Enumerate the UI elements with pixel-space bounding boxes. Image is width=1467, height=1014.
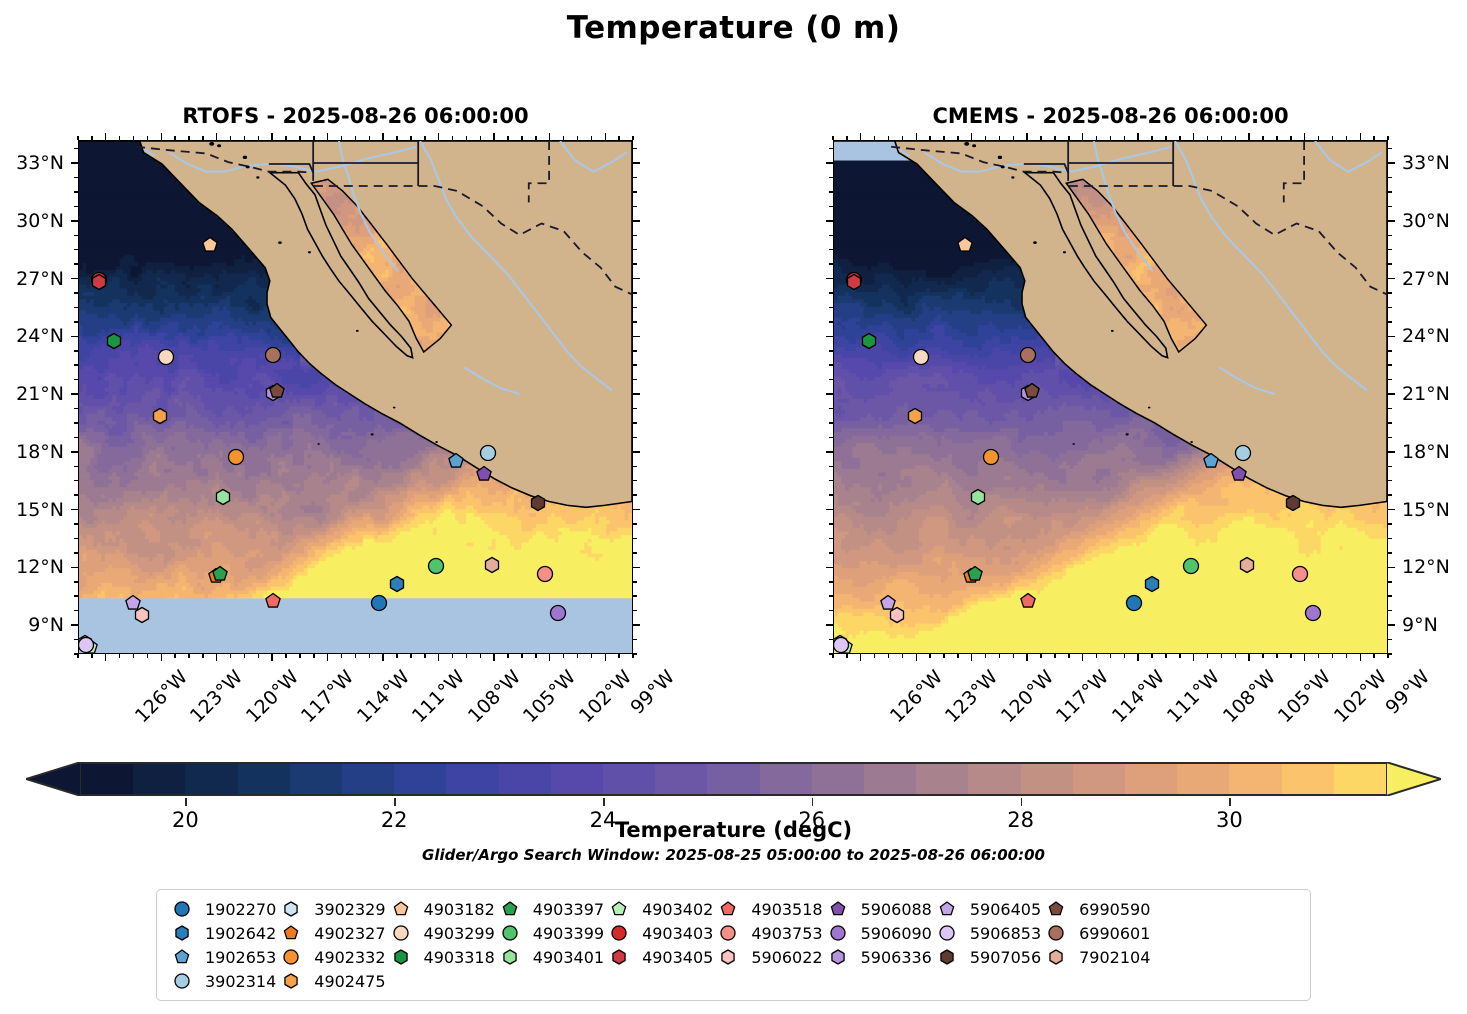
lon-minor-tick [299,654,301,658]
lat-minor-tick [1388,494,1392,496]
lat-minor-tick [74,567,78,569]
lat-minor-tick [74,639,78,641]
lon-minor-tick [957,654,959,658]
legend-column: 4903182490329949033180000000 [386,898,495,992]
lat-minor-tick [829,595,833,597]
lon-minor-tick [216,136,218,140]
lon-minor-tick [618,654,620,658]
colorbar-segment [446,764,499,794]
lon-minor-tick [327,654,329,658]
legend-marker-icon [495,949,525,965]
lon-minor-tick [1304,136,1306,140]
lon-minor-tick [507,136,509,140]
lat-minor-tick [1388,624,1392,626]
lat-minor-tick [633,494,637,496]
lat-minor-tick [633,581,637,583]
lon-label: 105°W [1274,666,1335,727]
lat-minor-tick [74,379,78,381]
legend-marker-icon [167,949,197,965]
lat-minor-tick [74,393,78,395]
lat-minor-tick [74,538,78,540]
lat-label: 27°N [16,268,64,290]
lat-minor-tick [829,466,833,468]
lon-minor-tick [258,654,260,658]
lon-minor-tick [563,136,565,140]
lon-minor-tick [832,136,834,140]
map-panel-cmems: CMEMS - 2025-08-26 06:00:00 9°N12°N15°N1… [833,140,1388,654]
lon-minor-tick [549,136,551,140]
legend-item-label: 7902104 [1071,948,1150,967]
lat-minor-tick [1388,509,1392,511]
lat-minor-tick [633,639,637,641]
legend-item-label: 4903405 [634,948,713,967]
colorbar-segment [603,764,656,794]
legend-item[interactable]: 4902332 [276,946,385,968]
lon-minor-tick [1360,654,1362,658]
lon-minor-tick [147,136,149,140]
legend-item[interactable]: 7902104 [1041,946,1150,968]
legend-item-label: 4903518 [743,900,822,919]
legend-item-label: 4903318 [416,948,495,967]
lat-minor-tick [633,451,637,453]
lat-minor-tick [829,624,833,626]
legend-item[interactable]: 5906022 [713,946,822,968]
legend-marker-icon [1041,901,1071,917]
legend-column: 4903402490340349034050000000 [604,898,713,992]
lat-minor-tick [633,595,637,597]
lon-minor-tick [929,136,931,140]
legend-item-label: 5906090 [853,924,932,943]
legend-item[interactable]: 4903399 [495,922,604,944]
lat-label: 18°N [1402,441,1450,463]
legend-item[interactable]: 6990601 [1041,922,1150,944]
legend-item[interactable]: 4903403 [604,922,713,944]
lon-minor-tick [563,654,565,658]
lon-minor-tick [832,654,834,658]
lon-minor-tick [313,654,315,658]
lat-minor-tick [829,538,833,540]
lon-minor-tick [916,654,918,658]
legend-item[interactable]: 4903182 [386,898,495,920]
legend-item[interactable]: 5906088 [823,898,932,920]
lon-minor-tick [1235,654,1237,658]
lon-minor-tick [1193,654,1195,658]
lat-minor-tick [74,235,78,237]
legend-marker-icon [386,949,416,965]
lon-minor-tick [957,136,959,140]
lat-minor-tick [74,624,78,626]
lat-label: 9°N [1402,614,1438,636]
lon-minor-tick [846,654,848,658]
lon-minor-tick [971,654,973,658]
legend-item[interactable]: 5906090 [823,922,932,944]
lon-label: 99°W [627,666,680,719]
lat-label: 15°N [16,499,64,521]
legend-item[interactable]: 4902475 [276,970,385,992]
lat-minor-tick [633,437,637,439]
lon-minor-tick [1290,136,1292,140]
lon-label: 126°W [131,666,192,727]
lat-minor-tick [633,567,637,569]
lat-minor-tick [1388,408,1392,410]
lat-minor-tick [633,523,637,525]
lat-minor-tick [74,206,78,208]
lat-label: 33°N [16,152,64,174]
legend-item[interactable]: 4903405 [604,946,713,968]
lon-minor-tick [874,654,876,658]
lon-minor-tick [985,654,987,658]
lat-minor-tick [74,350,78,352]
lon-minor-tick [1165,654,1167,658]
lat-minor-tick [633,364,637,366]
lon-minor-tick [382,654,384,658]
lon-minor-tick [860,654,862,658]
lon-minor-tick [382,136,384,140]
lat-minor-tick [633,552,637,554]
legend-item-label: 4903397 [525,900,604,919]
lat-minor-tick [633,278,637,280]
lat-minor-tick [829,581,833,583]
lon-minor-tick [1290,654,1292,658]
lat-minor-tick [74,177,78,179]
lon-label: 117°W [1052,666,1113,727]
legend-item[interactable]: 1902642 [167,922,276,944]
legend-item-label: 6990601 [1071,924,1150,943]
lat-minor-tick [1388,350,1392,352]
lat-minor-tick [829,509,833,511]
lon-minor-tick [271,654,273,658]
lat-minor-tick [829,393,833,395]
lat-minor-tick [633,610,637,612]
lat-label: 21°N [1402,383,1450,405]
lon-minor-tick [424,136,426,140]
lon-minor-tick [1318,136,1320,140]
legend-column: 5906405590685359070560000000 [932,898,1041,992]
lat-minor-tick [74,408,78,410]
legend-item[interactable]: 4903518 [713,898,822,920]
lon-minor-tick [1054,136,1056,140]
lat-minor-tick [74,552,78,554]
colorbar-segment [655,764,708,794]
legend-column: 4903518490375359060220000000 [713,898,822,992]
lon-minor-tick [902,136,904,140]
lat-minor-tick [829,263,833,265]
legend-marker-icon [713,925,743,941]
legend-column: 5906088590609059063360000000 [823,898,932,992]
colorbar-segment [81,764,134,794]
colorbar-segment [1282,764,1335,794]
lon-minor-tick [77,654,79,658]
lon-minor-tick [874,136,876,140]
lat-minor-tick [633,307,637,309]
lat-minor-tick [74,220,78,222]
lon-minor-tick [452,654,454,658]
lon-minor-tick [244,654,246,658]
lat-minor-tick [829,249,833,251]
lon-label: 117°W [297,666,358,727]
legend-marker-icon [1041,925,1071,941]
lon-minor-tick [410,654,412,658]
legend-item-label: 4903403 [634,924,713,943]
lon-minor-tick [888,654,890,658]
lon-minor-tick [1096,136,1098,140]
lat-minor-tick [829,451,833,453]
lat-minor-tick [1388,263,1392,265]
lon-minor-tick [916,136,918,140]
lat-minor-tick [829,567,833,569]
colorbar-segment [238,764,291,794]
lat-minor-tick [633,379,637,381]
lat-minor-tick [633,191,637,193]
legend-marker-icon [823,925,853,941]
legend-item-label: 6990590 [1071,900,1150,919]
lon-minor-tick [902,654,904,658]
lon-minor-tick [452,136,454,140]
lat-minor-tick [74,292,78,294]
lon-minor-tick [202,136,204,140]
legend-column: 3902329490232749023324902475 [276,898,385,992]
axis-decorations-cmems: 9°N12°N15°N18°N21°N24°N27°N30°N33°N126°W… [833,140,1388,654]
lat-minor-tick [74,595,78,597]
lat-minor-tick [829,350,833,352]
lon-label: 102°W [575,666,636,727]
lat-label: 24°N [16,325,64,347]
lat-minor-tick [633,480,637,482]
lon-minor-tick [493,136,495,140]
lon-minor-tick [1068,654,1070,658]
lon-minor-tick [1346,654,1348,658]
lon-minor-tick [1262,654,1264,658]
lon-minor-tick [929,654,931,658]
legend-item[interactable]: 3902314 [167,970,276,992]
lat-minor-tick [829,148,833,150]
legend-item[interactable]: 5906853 [932,922,1041,944]
lat-minor-tick [74,422,78,424]
lat-label: 15°N [1402,499,1450,521]
lon-minor-tick [1360,136,1362,140]
lat-label: 9°N [28,614,64,636]
legend-marker-icon [386,901,416,917]
lon-minor-tick [466,654,468,658]
lat-label: 12°N [1402,556,1450,578]
colorbar-segment [394,764,447,794]
colorbar-segment [1021,764,1074,794]
legend-item-label: 4902332 [306,948,385,967]
figure-suptitle: Temperature (0 m) [0,10,1467,46]
lon-minor-tick [521,136,523,140]
lat-minor-tick [829,220,833,222]
legend-item[interactable]: 4903318 [386,946,495,968]
lon-minor-tick [133,136,135,140]
lat-minor-tick [633,148,637,150]
lon-minor-tick [943,654,945,658]
legend-item[interactable]: 4903753 [713,922,822,944]
lat-minor-tick [829,278,833,280]
legend-item-label: 4903753 [743,924,822,943]
legend-item[interactable]: 1902653 [167,946,276,968]
lat-minor-tick [1388,480,1392,482]
legend-item[interactable]: 4902327 [276,922,385,944]
lat-minor-tick [829,523,833,525]
lon-minor-tick [216,654,218,658]
legend-item-label: 4903299 [416,924,495,943]
lat-minor-tick [1388,191,1392,193]
lat-minor-tick [1388,177,1392,179]
lat-minor-tick [829,162,833,164]
lat-minor-tick [1388,379,1392,381]
legend-item[interactable]: 6990590 [1041,898,1150,920]
lat-minor-tick [1388,581,1392,583]
lat-minor-tick [1388,451,1392,453]
lat-minor-tick [1388,393,1392,395]
colorbar-segment [1073,764,1126,794]
colorbar-segment [1177,764,1230,794]
legend-item-label: 4903182 [416,900,495,919]
lat-minor-tick [633,235,637,237]
lon-minor-tick [1110,654,1112,658]
lon-minor-tick [341,654,343,658]
lon-minor-tick [1373,654,1375,658]
lat-minor-tick [633,206,637,208]
lat-minor-tick [829,321,833,323]
legend-item[interactable]: 3902329 [276,898,385,920]
legend-item-label: 4903402 [634,900,713,919]
legend-item[interactable]: 5907056 [932,946,1041,968]
legend-item[interactable]: 4903402 [604,898,713,920]
legend-item-label: 1902653 [197,948,276,967]
lon-minor-tick [1387,136,1389,140]
lon-minor-tick [105,136,107,140]
lat-minor-tick [1388,567,1392,569]
colorbar-segment [133,764,186,794]
lon-minor-tick [1276,654,1278,658]
lon-minor-tick [1332,136,1334,140]
lon-minor-tick [1207,136,1209,140]
legend-marker-icon [495,925,525,941]
lon-minor-tick [480,654,482,658]
lat-minor-tick [74,581,78,583]
lon-minor-tick [327,136,329,140]
legend-item-label: 4903399 [525,924,604,943]
lon-minor-tick [535,654,537,658]
lat-minor-tick [74,307,78,309]
lon-minor-tick [1387,654,1389,658]
lat-minor-tick [1388,206,1392,208]
lon-minor-tick [438,136,440,140]
legend-marker-icon [276,973,306,989]
legend-item-label: 4903401 [525,948,604,967]
float-legend: 1902270190264219026533902314390232949023… [156,889,1311,1001]
lon-minor-tick [507,654,509,658]
lon-minor-tick [1165,136,1167,140]
lat-minor-tick [1388,249,1392,251]
legend-marker-icon [276,925,306,941]
legend-column: 1902270190264219026533902314 [167,898,276,992]
colorbar-extend-max [1386,762,1441,796]
lat-label: 30°N [1402,210,1450,232]
lon-minor-tick [591,654,593,658]
legend-item[interactable]: 1902270 [167,898,276,920]
lon-minor-tick [1248,136,1250,140]
colorbar-tick [603,798,605,806]
lat-minor-tick [829,177,833,179]
lon-minor-tick [369,654,371,658]
legend-column: 4903397490339949034010000000 [495,898,604,992]
lon-minor-tick [1137,136,1139,140]
lat-minor-tick [829,235,833,237]
lon-minor-tick [1179,654,1181,658]
legend-marker-icon [823,901,853,917]
lat-minor-tick [829,610,833,612]
lon-minor-tick [999,136,1001,140]
lon-minor-tick [396,654,398,658]
lat-minor-tick [829,480,833,482]
legend-item[interactable]: 5906405 [932,898,1041,920]
lat-minor-tick [1388,437,1392,439]
lon-minor-tick [396,136,398,140]
legend-item-label: 5906088 [853,900,932,919]
legend-item-label: 4902327 [306,924,385,943]
lat-minor-tick [829,336,833,338]
lat-minor-tick [829,292,833,294]
lat-minor-tick [633,624,637,626]
colorbar-tick [1021,798,1023,806]
lat-minor-tick [829,191,833,193]
lon-minor-tick [174,136,176,140]
lat-minor-tick [633,249,637,251]
lon-minor-tick [1068,136,1070,140]
lat-minor-tick [829,307,833,309]
lon-label: 105°W [519,666,580,727]
lat-minor-tick [829,206,833,208]
lon-minor-tick [1082,654,1084,658]
lon-minor-tick [618,136,620,140]
lon-label: 108°W [464,666,525,727]
colorbar-tick [812,798,814,806]
lat-minor-tick [633,321,637,323]
colorbar-tick [185,798,187,806]
lat-minor-tick [74,437,78,439]
lat-minor-tick [74,523,78,525]
lon-minor-tick [1373,136,1375,140]
lon-label: 102°W [1330,666,1391,727]
colorbar-segment [968,764,1021,794]
colorbar-segment [290,764,343,794]
lon-minor-tick [591,136,593,140]
lat-minor-tick [1388,466,1392,468]
lon-minor-tick [846,136,848,140]
lon-minor-tick [202,654,204,658]
lat-minor-tick [1388,523,1392,525]
lon-minor-tick [230,136,232,140]
legend-item[interactable]: 4903397 [495,898,604,920]
legend-item[interactable]: 4903299 [386,922,495,944]
legend-item[interactable]: 4903401 [495,946,604,968]
colorbar-title: Temperature (degC) [0,818,1467,842]
lat-minor-tick [74,466,78,468]
lon-minor-tick [133,654,135,658]
lat-minor-tick [829,437,833,439]
legend-marker-icon [386,925,416,941]
lon-minor-tick [1124,136,1126,140]
colorbar-segment [1229,764,1282,794]
colorbar-segment [1125,764,1178,794]
lon-minor-tick [605,136,607,140]
legend-item-label: 4902475 [306,972,385,991]
lat-minor-tick [633,393,637,395]
legend-item[interactable]: 5906336 [823,946,932,968]
lat-minor-tick [1388,321,1392,323]
